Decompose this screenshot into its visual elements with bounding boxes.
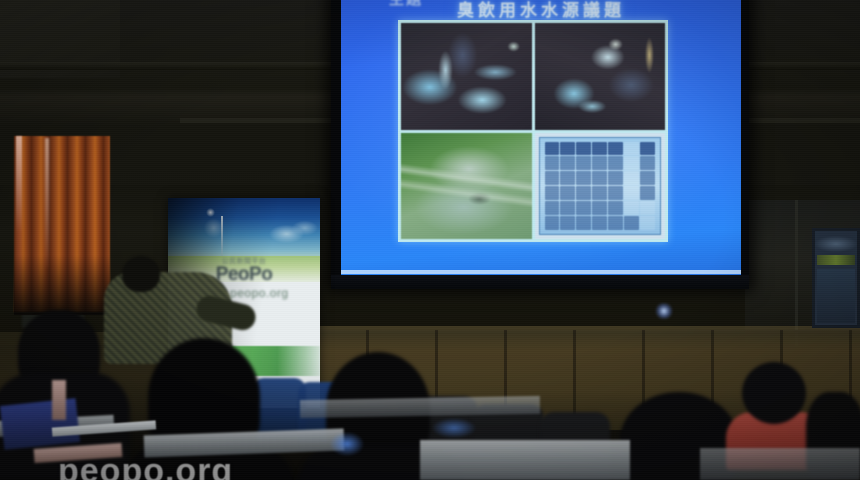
wall-seam bbox=[795, 200, 798, 346]
projection-screen: 主題 臭飲用水水源議題 bbox=[341, 0, 741, 276]
watermark: peopo.org bbox=[58, 452, 233, 480]
slide-panel-aerial-top-right bbox=[535, 23, 666, 130]
poster-lower-area bbox=[817, 269, 855, 323]
lecture-hall-photo: 主題 臭飲用水水源議題 bbox=[0, 0, 860, 480]
presenter-head bbox=[122, 256, 160, 292]
slide-panel-terrain-bottom-left bbox=[401, 133, 532, 240]
desk-surface bbox=[700, 448, 860, 480]
curtain-highlight-secondary bbox=[45, 138, 49, 268]
poster-top-image bbox=[815, 235, 857, 253]
blue-indicator-light-icon bbox=[655, 303, 673, 319]
poster-green-band bbox=[817, 255, 855, 265]
curtain-shadow bbox=[14, 255, 110, 315]
desk-surface bbox=[420, 440, 630, 480]
slide-panel-aerial-top-left bbox=[401, 23, 532, 130]
slide-data-table bbox=[539, 137, 662, 236]
slide-image-grid bbox=[398, 20, 668, 242]
laptop bbox=[0, 398, 80, 450]
screen-bottom-bar bbox=[331, 275, 749, 289]
wall-poster-frame bbox=[812, 228, 860, 328]
screen-bottom-edge bbox=[341, 270, 741, 274]
slide-panel-table-bottom-right bbox=[535, 133, 666, 240]
upright-object bbox=[52, 380, 66, 420]
audience-head bbox=[742, 362, 806, 424]
screen-glow-reflection bbox=[432, 418, 476, 438]
screen-glow-reflection bbox=[330, 432, 364, 456]
slide-title: 臭飲用水水源議題 bbox=[341, 0, 741, 21]
